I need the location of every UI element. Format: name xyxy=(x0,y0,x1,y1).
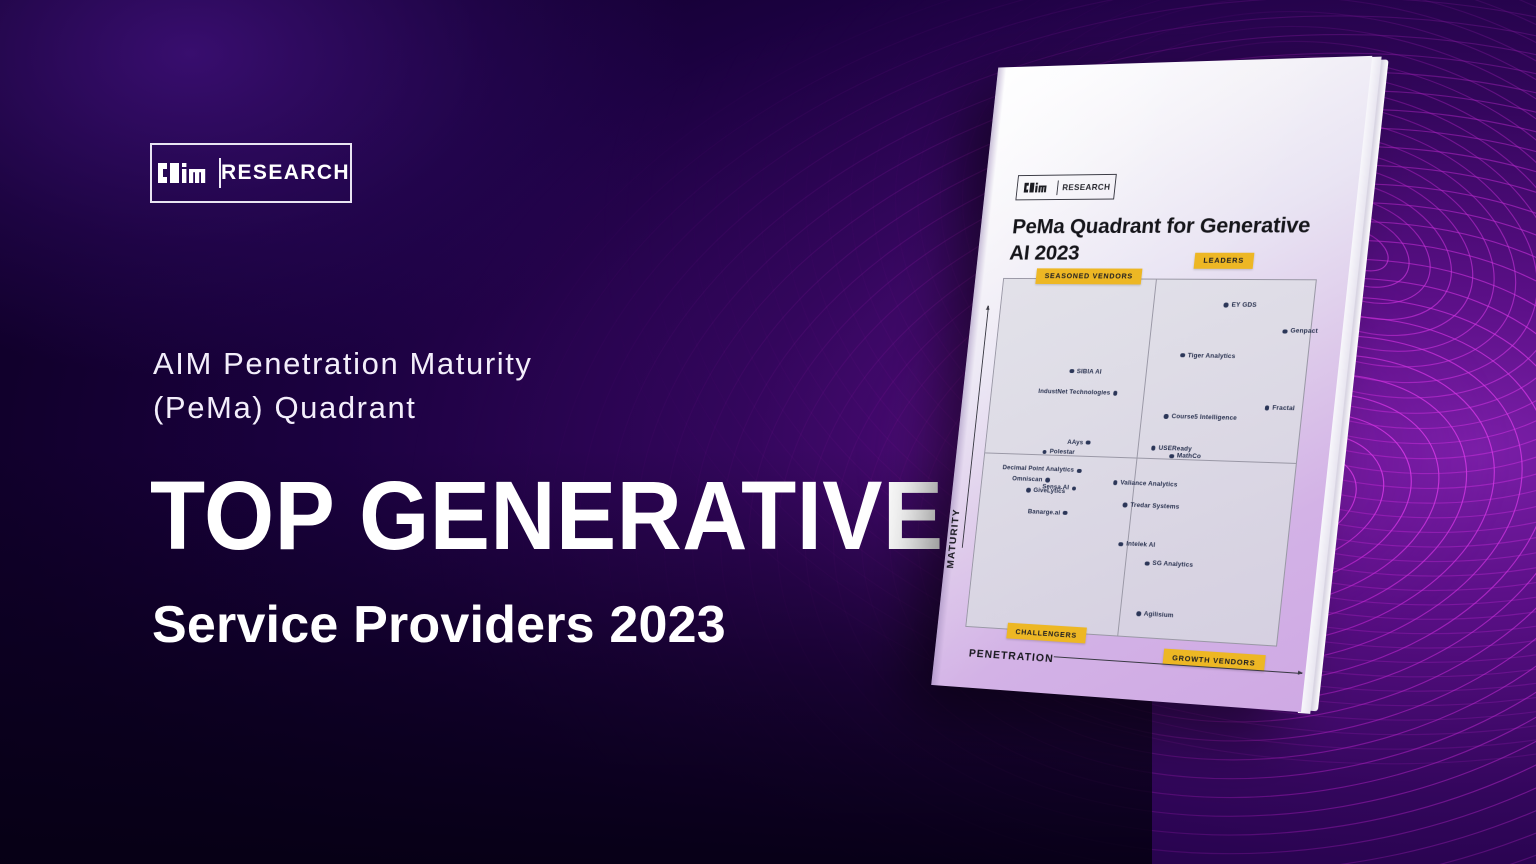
pema-quadrant-chart: SEASONED VENDORS LEADERS CHALLENGERS GRO… xyxy=(965,278,1317,647)
quadrant-point: Omniscan xyxy=(1012,476,1050,484)
book-3d: RESEARCH PeMa Quadrant for Generative AI… xyxy=(931,56,1372,712)
point-marker xyxy=(1282,329,1287,334)
cover-logo-wordmark: RESEARCH xyxy=(1058,182,1115,192)
point-label: Polestar xyxy=(1049,449,1075,457)
point-label: Course5 Intelligence xyxy=(1171,413,1237,422)
quadrant-point: Genpact xyxy=(1282,328,1318,336)
quadrant-label-leaders: LEADERS xyxy=(1194,253,1254,269)
point-label: Valiance Analytics xyxy=(1120,480,1178,489)
point-marker xyxy=(1077,468,1082,473)
cover-title: PeMa Quadrant for Generative AI 2023 xyxy=(1008,212,1328,266)
point-marker xyxy=(1145,561,1150,566)
quadrant-point: MathCo xyxy=(1169,453,1201,461)
point-label: Decimal Point Analytics xyxy=(1002,465,1074,474)
quadrant-label-seasoned-vendors: SEASONED VENDORS xyxy=(1035,268,1142,284)
point-label: EY GDS xyxy=(1231,302,1257,309)
point-label: Genpact xyxy=(1290,328,1318,335)
point-marker xyxy=(1119,542,1124,547)
point-label: Banarge.ai xyxy=(1027,508,1060,516)
quadrant-point: Fractal xyxy=(1264,404,1295,412)
quadrant-point: EY GDS xyxy=(1224,302,1258,309)
point-label: Agilisium xyxy=(1143,610,1173,619)
point-marker xyxy=(1264,406,1269,411)
logo-wordmark: RESEARCH xyxy=(221,161,350,185)
report-book-mockup: RESEARCH PeMa Quadrant for Generative AI… xyxy=(955,60,1425,800)
hero-eyebrow: AIM Penetration Maturity (PeMa) Quadrant xyxy=(153,342,793,430)
hero-eyebrow-line1: AIM Penetration Maturity xyxy=(153,342,793,386)
point-marker xyxy=(1136,611,1141,616)
point-marker xyxy=(1169,454,1174,459)
point-marker xyxy=(1026,488,1031,493)
aim-logo-mark-icon xyxy=(152,161,219,185)
quadrant-point: Polestar xyxy=(1042,448,1075,456)
point-marker xyxy=(1113,391,1118,396)
quadrant-point: Banarge.ai xyxy=(1027,508,1067,517)
point-marker xyxy=(1113,481,1118,486)
point-label: Tredar Systems xyxy=(1130,502,1180,511)
hero-headline: TOP GENERATIVE AI xyxy=(150,470,857,561)
quadrant-point: Valiance Analytics xyxy=(1113,479,1178,488)
quadrant-horizontal-divider xyxy=(985,452,1296,464)
quadrant-point: Course5 Intelligence xyxy=(1164,413,1238,422)
cover-aim-research-logo: RESEARCH xyxy=(1015,174,1116,200)
point-marker xyxy=(1069,369,1074,374)
quadrant-point: Decimal Point Analytics xyxy=(1002,465,1082,475)
point-label: SIBIA AI xyxy=(1076,368,1102,375)
cover-aim-logo-mark-icon xyxy=(1017,181,1058,193)
quadrant-point: Tiger Analytics xyxy=(1180,352,1236,360)
quadrant-point: Agilisium xyxy=(1136,610,1174,619)
point-label: SG Analytics xyxy=(1152,560,1193,569)
point-marker xyxy=(1063,511,1068,516)
hero-subheadline: Service Providers 2023 xyxy=(152,595,912,655)
point-marker xyxy=(1072,486,1077,491)
point-marker xyxy=(1042,450,1047,455)
point-label: Fractal xyxy=(1272,405,1295,413)
poster-canvas: RESEARCH AIM Penetration Maturity (PeMa)… xyxy=(0,0,1536,864)
book-cover: RESEARCH PeMa Quadrant for Generative AI… xyxy=(931,56,1372,712)
point-label: Intelek AI xyxy=(1126,541,1156,549)
quadrant-point: GiveLytics xyxy=(1026,487,1066,495)
point-label: AAys xyxy=(1067,439,1084,446)
hero-content: RESEARCH AIM Penetration Maturity (PeMa)… xyxy=(150,0,910,864)
quadrant-point: IndustNet Technologies xyxy=(1038,388,1118,397)
point-marker xyxy=(1123,502,1128,507)
hero-eyebrow-line2: (PeMa) Quadrant xyxy=(153,386,793,430)
quadrant-point: SG Analytics xyxy=(1145,560,1194,569)
point-marker xyxy=(1180,353,1185,358)
quadrant-point: AAys xyxy=(1067,439,1091,447)
point-marker xyxy=(1086,440,1091,445)
point-label: MathCo xyxy=(1176,453,1201,461)
quadrant-point: Intelek AI xyxy=(1118,541,1155,550)
quadrant-point: SIBIA AI xyxy=(1069,368,1102,376)
point-label: Omniscan xyxy=(1012,476,1043,484)
aim-research-logo: RESEARCH xyxy=(150,143,352,203)
point-marker xyxy=(1224,303,1229,308)
point-label: IndustNet Technologies xyxy=(1038,388,1111,397)
point-label: Tiger Analytics xyxy=(1187,352,1235,360)
point-marker xyxy=(1164,414,1169,419)
point-marker xyxy=(1151,446,1156,451)
point-label: GiveLytics xyxy=(1033,487,1066,495)
point-marker xyxy=(1045,478,1050,483)
